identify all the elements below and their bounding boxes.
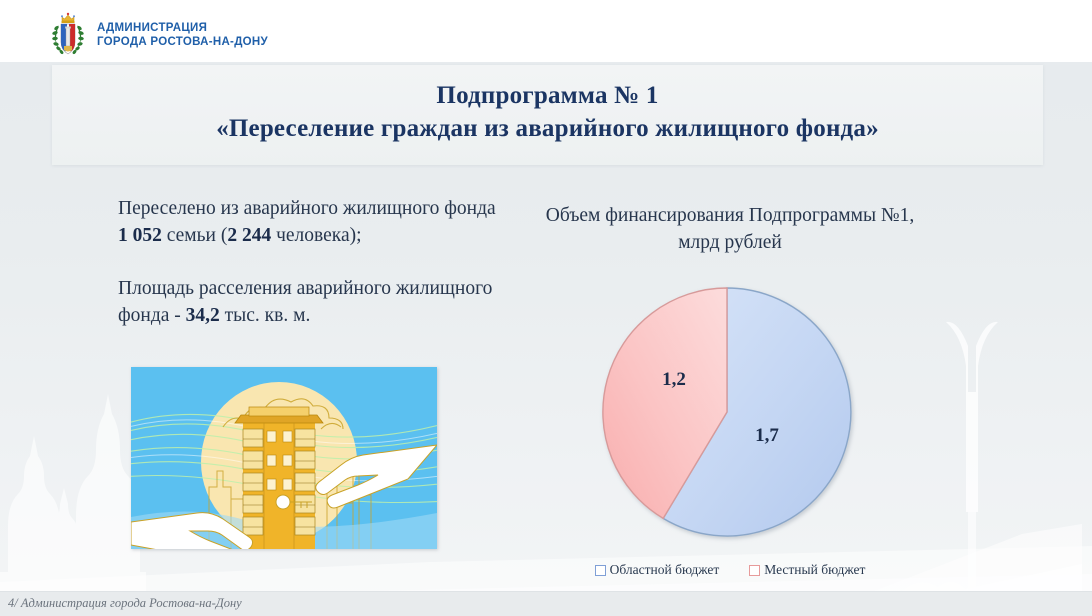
chart-title: Объем финансирования Подпрограммы №1, мл…: [505, 202, 955, 256]
pie-chart: 1,2 1,7: [590, 275, 870, 555]
org-name-line2: ГОРОДА РОСТОВА-НА-ДОНУ: [97, 35, 268, 49]
legend-label-mestny-budget: Местный бюджет: [764, 562, 865, 578]
organization-name: АДМИНИСТРАЦИЯ ГОРОДА РОСТОВА-НА-ДОНУ: [97, 21, 268, 49]
pie-label-oblastnoy-budget: 1,7: [755, 425, 779, 446]
stat1-people-value: 2 244: [227, 225, 271, 246]
legend-swatch-blue-icon: [595, 565, 606, 576]
legend-label-oblastnoy-budget: Областной бюджет: [610, 562, 720, 578]
chart-title-line2: млрд рублей: [505, 229, 955, 256]
legend-swatch-pink-icon: [749, 565, 760, 576]
stat-resettlement-area: Площадь расселения аварийного жилищного …: [118, 276, 508, 329]
pie-label-mestny-budget: 1,2: [662, 369, 686, 390]
stat1-middle: семьи (: [162, 225, 227, 246]
title-band: Подпрограмма № 1 «Переселение граждан из…: [52, 65, 1043, 165]
statistics-column: Переселено из аварийного жилищного фонда…: [118, 196, 508, 329]
legend-item-mestny-budget: Местный бюджет: [749, 562, 865, 578]
stat1-prefix: Переселено из аварийного жилищного фонда: [118, 198, 496, 219]
rostov-coat-of-arms-icon: [48, 12, 88, 58]
legend-item-oblastnoy-budget: Областной бюджет: [595, 562, 720, 578]
org-name-line1: АДМИНИСТРАЦИЯ: [97, 21, 268, 35]
stat1-families-value: 1 052: [118, 225, 162, 246]
page-title: Подпрограмма № 1 «Переселение граждан из…: [52, 79, 1043, 145]
stat-resettled-families: Переселено из аварийного жилищного фонда…: [118, 196, 508, 249]
background-watermark-cathedral: [0, 376, 150, 606]
stat2-suffix: тыс. кв. м.: [220, 305, 311, 326]
stat1-suffix: человека);: [271, 225, 361, 246]
slide-canvas: АДМИНИСТРАЦИЯ ГОРОДА РОСТОВА-НА-ДОНУ Под…: [0, 0, 1092, 616]
title-line-1: Подпрограмма № 1: [52, 79, 1043, 112]
footer-text: 4/ Администрация города Ростова-на-Дону: [8, 596, 242, 611]
title-line-2: «Переселение граждан из аварийного жилищ…: [52, 112, 1043, 145]
footer-bar: 4/ Администрация города Ростова-на-Дону: [0, 591, 1092, 616]
chart-legend: Областной бюджет Местный бюджет: [505, 562, 955, 578]
organization-logo-block: АДМИНИСТРАЦИЯ ГОРОДА РОСТОВА-НА-ДОНУ: [48, 12, 268, 58]
header-bar: АДМИНИСТРАЦИЯ ГОРОДА РОСТОВА-НА-ДОНУ: [0, 0, 1092, 62]
stat2-area-value: 34,2: [186, 305, 220, 326]
chart-title-line1: Объем финансирования Подпрограммы №1,: [505, 202, 955, 229]
housing-keys-handover-illustration: [131, 367, 437, 549]
